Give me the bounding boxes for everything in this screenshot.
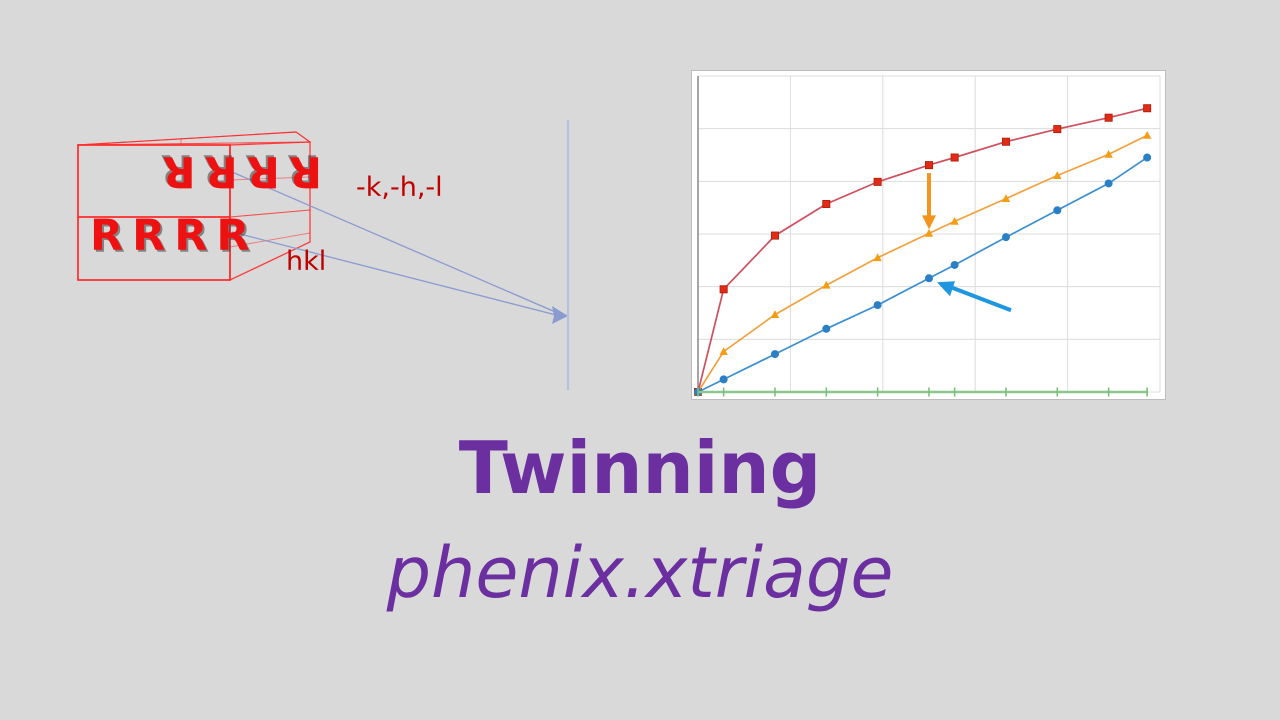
- r-glyph: R: [90, 215, 123, 258]
- r-glyph: R: [289, 149, 322, 192]
- r-glyph: R: [163, 149, 196, 192]
- r-row-twinned: R R R R: [163, 149, 323, 192]
- chart-vector-layer: [691, 70, 1166, 400]
- twinning-diagram: R R R R R R R R -k,-h,-l hkl: [60, 120, 580, 410]
- r-glyph: R: [132, 215, 165, 258]
- r-glyph: R: [174, 215, 207, 258]
- twin-index-label: -k,-h,-l: [356, 174, 443, 201]
- twinning-chart: [691, 70, 1166, 400]
- slide-canvas: R R R R R R R R -k,-h,-l hkl Twinning ph…: [0, 0, 1280, 720]
- r-glyph: R: [247, 149, 280, 192]
- r-glyph: R: [205, 149, 238, 192]
- r-glyph: R: [216, 215, 249, 258]
- original-index-label: hkl: [286, 248, 326, 275]
- r-row-original: R R R R: [90, 215, 250, 258]
- chart-series-layer: [694, 105, 1152, 397]
- page-subtitle: phenix.xtriage: [0, 538, 1280, 608]
- page-title: Twinning: [0, 432, 1280, 504]
- ray-arrowheads: [552, 306, 568, 324]
